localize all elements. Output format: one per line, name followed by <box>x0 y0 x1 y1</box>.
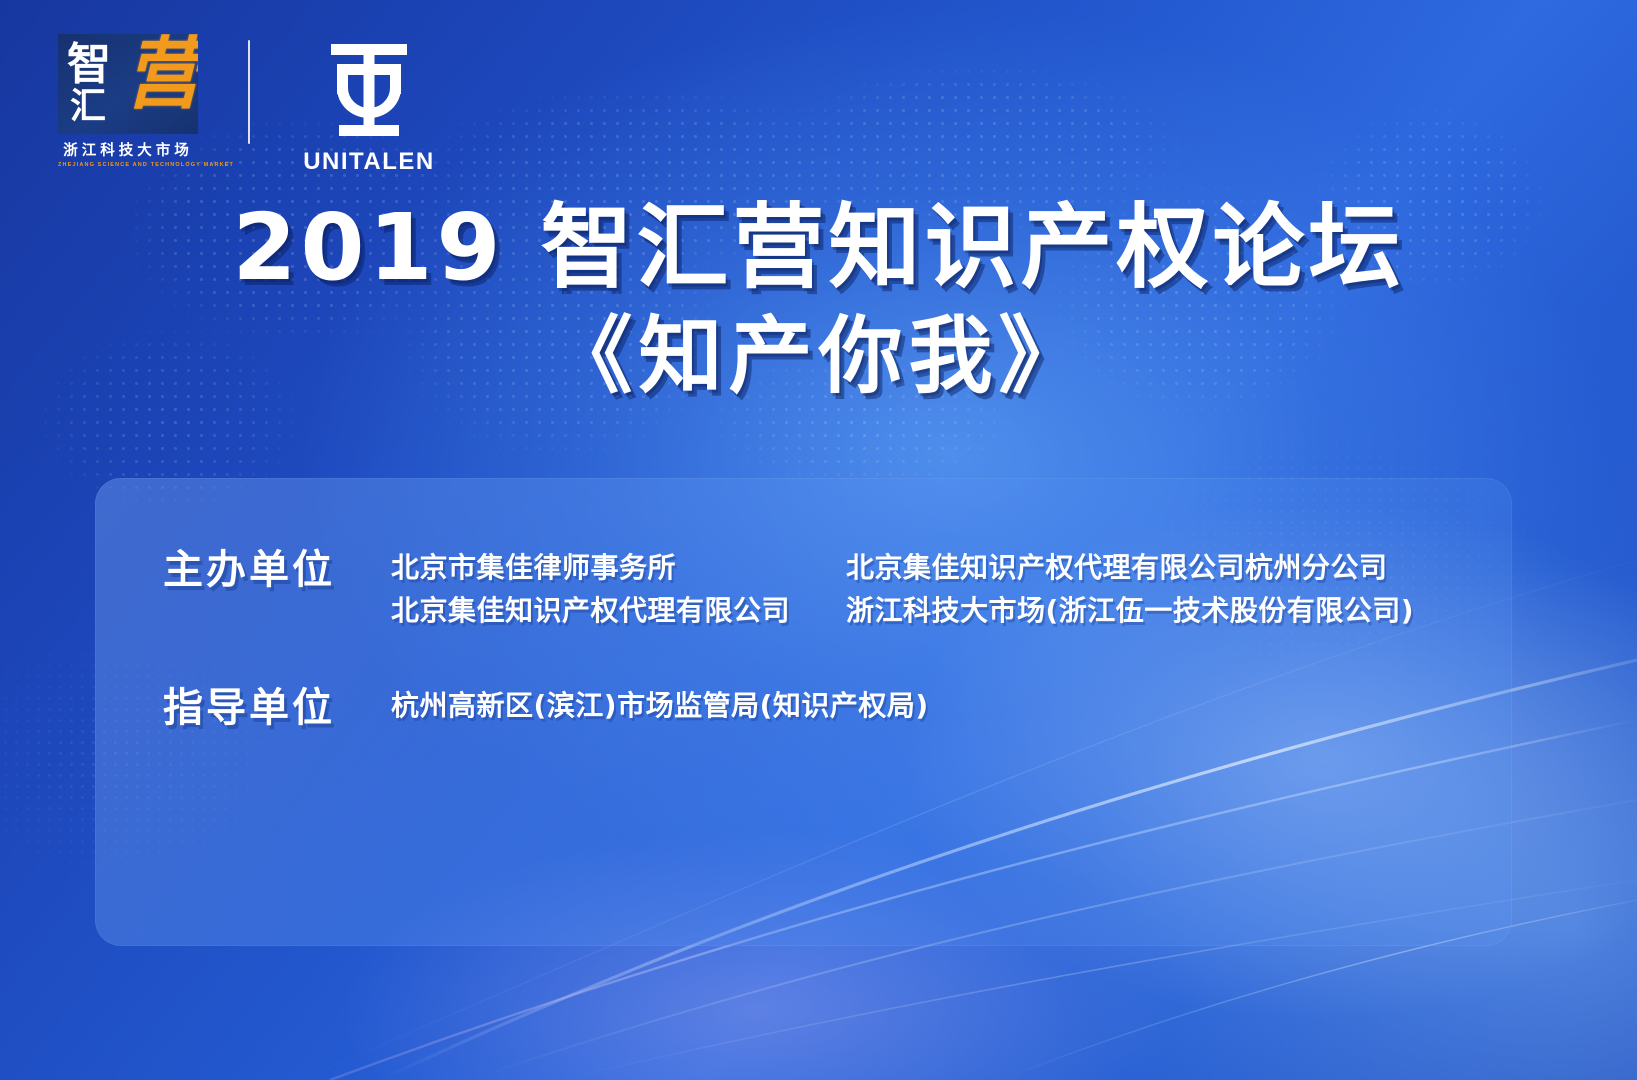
info-line: 北京集佳知识产权代理有限公司 <box>391 589 846 632</box>
info-row-columns: 杭州高新区(滨江)市场监管局(知识产权局) <box>391 684 1492 727</box>
zhihuiying-logo-name-cn: 浙江科技大市场 <box>58 139 198 160</box>
ying-character: 营 <box>124 36 198 114</box>
page-subtitle: 《知产你我》 <box>0 310 1637 402</box>
info-row-label: 主办单位 <box>163 546 391 594</box>
title-block: 2019 智汇营知识产权论坛 《知产你我》 <box>0 196 1637 402</box>
info-row-columns: 北京市集佳律师事务所 北京集佳知识产权代理有限公司 北京集佳知识产权代理有限公司… <box>391 546 1492 632</box>
info-line: 北京集佳知识产权代理有限公司杭州分公司 <box>846 546 1492 589</box>
page-title: 2019 智汇营知识产权论坛 <box>0 196 1637 300</box>
info-column-right: 北京集佳知识产权代理有限公司杭州分公司 浙江科技大市场(浙江伍一技术股份有限公司… <box>846 546 1492 632</box>
poster-canvas: 智 汇 营 浙江科技大市场 ZHEJIANG SCIENCE AND TECHN… <box>0 0 1637 1080</box>
unitalen-logo: UNITALEN <box>294 34 444 176</box>
info-column-left: 北京市集佳律师事务所 北京集佳知识产权代理有限公司 <box>391 546 846 632</box>
info-row-label: 指导单位 <box>163 684 391 732</box>
zhi-character: 智 <box>67 43 111 87</box>
unitalen-logo-icon <box>323 38 415 142</box>
info-row-guidance: 指导单位 杭州高新区(滨江)市场监管局(知识产权局) <box>163 684 1492 732</box>
info-panel: 主办单位 北京市集佳律师事务所 北京集佳知识产权代理有限公司 北京集佳知识产权代… <box>95 478 1512 946</box>
logo-bar: 智 汇 营 浙江科技大市场 ZHEJIANG SCIENCE AND TECHN… <box>58 34 444 176</box>
zhihuiying-logo: 智 汇 营 浙江科技大市场 ZHEJIANG SCIENCE AND TECHN… <box>58 34 198 168</box>
info-line: 浙江科技大市场(浙江伍一技术股份有限公司) <box>846 589 1492 632</box>
zhihuiying-logo-name-en: ZHEJIANG SCIENCE AND TECHNOLOGY MARKET <box>58 162 198 168</box>
info-column-left: 杭州高新区(滨江)市场监管局(知识产权局) <box>391 684 1492 727</box>
info-rows: 主办单位 北京市集佳律师事务所 北京集佳知识产权代理有限公司 北京集佳知识产权代… <box>163 546 1492 732</box>
info-line: 北京市集佳律师事务所 <box>391 546 846 589</box>
logo-divider <box>248 40 250 144</box>
unitalen-logo-name: UNITALEN <box>294 148 444 176</box>
hui-character: 汇 <box>70 89 106 125</box>
info-row-organizers: 主办单位 北京市集佳律师事务所 北京集佳知识产权代理有限公司 北京集佳知识产权代… <box>163 546 1492 632</box>
info-line: 杭州高新区(滨江)市场监管局(知识产权局) <box>391 684 1492 727</box>
zhihuiying-logo-mark: 智 汇 营 <box>58 34 198 134</box>
